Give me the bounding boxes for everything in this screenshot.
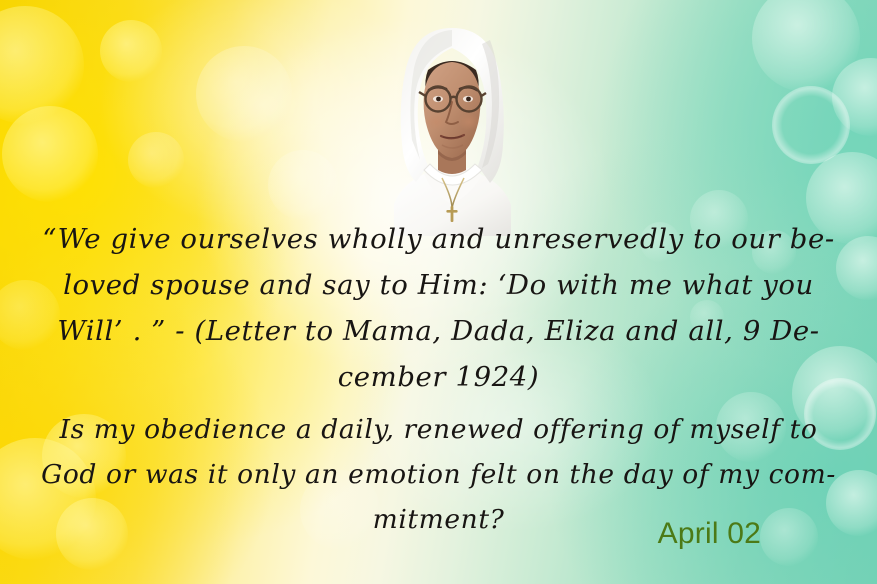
nun-portrait (372, 18, 532, 236)
text-block: “We give ourselves wholly and unreserved… (0, 216, 877, 542)
date-label: April 02 (658, 517, 761, 551)
quote-line: Will’ . ” - (Letter to Mama, Dada, Eliza… (0, 308, 877, 354)
quote-text: “We give ourselves wholly and unreserved… (0, 216, 877, 400)
quote-line: “We give ourselves wholly and unreserved… (0, 216, 877, 262)
quote-line: cember 1924) (0, 354, 877, 400)
reflection-line: God or was it only an emotion felt on th… (0, 452, 877, 497)
quote-line: loved spouse and say to Him: ‘Do with me… (0, 262, 877, 308)
reflection-card: “We give ourselves wholly and unreserved… (0, 0, 877, 584)
reflection-line: Is my obedience a daily, renewed offerin… (0, 407, 877, 452)
